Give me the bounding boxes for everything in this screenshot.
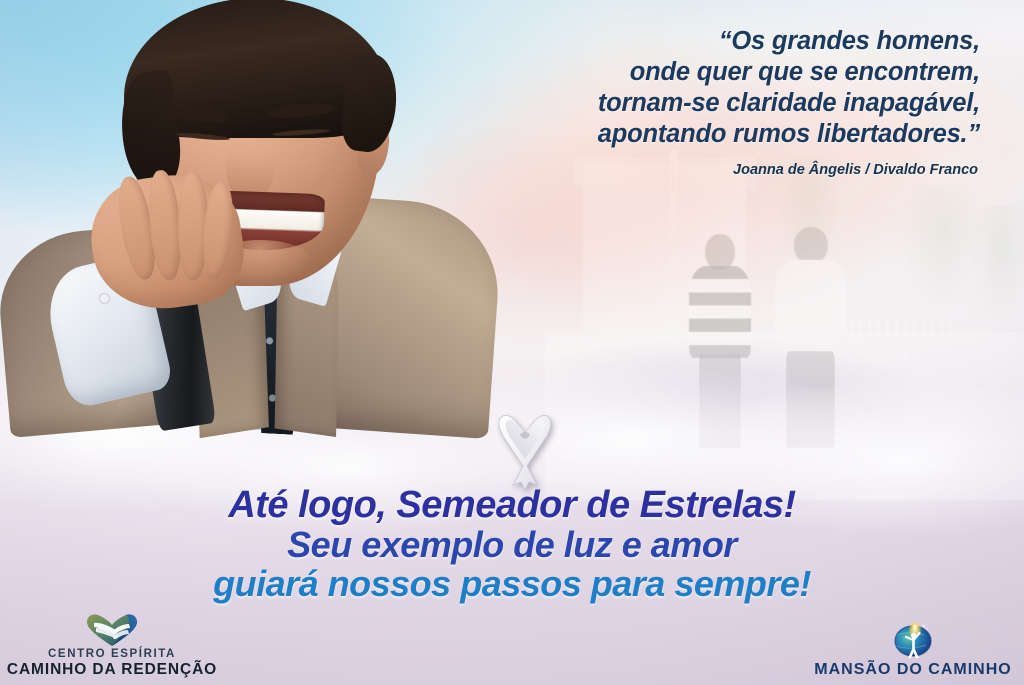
headline-line-2: Seu exemplo de luz e amor xyxy=(0,525,1024,564)
heart-hands-icon xyxy=(85,613,139,647)
quote-line-1: “Os grandes homens, xyxy=(420,26,980,57)
logo-left-line-2: CAMINHO DA REDENÇÃO xyxy=(6,661,218,679)
quote-line-4: apontando rumos libertadores.” xyxy=(420,119,980,150)
logo-right-line-2: MANSÃO DO CAMINHO xyxy=(806,661,1020,679)
quote-line-2: onde quer que se encontrem, xyxy=(420,57,980,88)
logo-mansao-do-caminho: MANSÃO DO CAMINHO xyxy=(806,620,1020,679)
mourning-ribbon-icon xyxy=(492,409,558,491)
headline-line-1: Até logo, Semeador de Estrelas! xyxy=(0,486,1024,525)
headline-block: Até logo, Semeador de Estrelas! Seu exem… xyxy=(0,486,1024,603)
portrait-cuff-button xyxy=(100,294,109,303)
portrait-divaldo-franco xyxy=(0,0,480,424)
portrait-hair-temple xyxy=(338,51,402,155)
globe-figure-light-icon xyxy=(888,620,938,660)
memorial-poster: “Os grandes homens, onde quer que se enc… xyxy=(0,0,1024,685)
quote-line-3: tornam-se claridade inapagável, xyxy=(420,88,980,119)
quote-attribution: Joanna de Ângelis / Divaldo Franco xyxy=(420,162,978,178)
logo-left-line-1: CENTRO ESPÍRITA xyxy=(6,648,218,660)
quote-block: “Os grandes homens, onde quer que se enc… xyxy=(420,26,980,178)
headline-line-3: guiará nossos passos para sempre! xyxy=(0,564,1024,603)
logo-centro-espirita: CENTRO ESPÍRITA CAMINHO DA REDENÇÃO xyxy=(6,613,218,679)
